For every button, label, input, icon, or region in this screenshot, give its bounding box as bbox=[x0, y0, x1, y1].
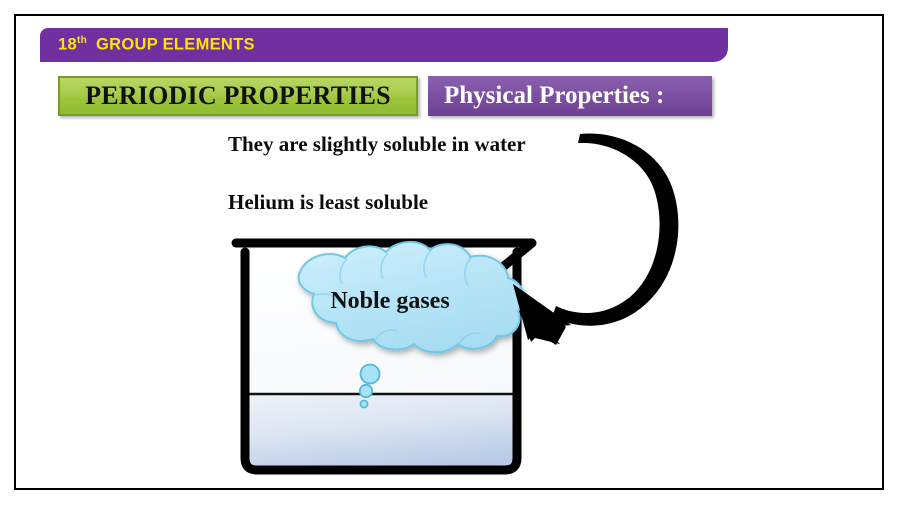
physical-properties-banner: Physical Properties : bbox=[428, 76, 712, 116]
slide-header-title: 18thGROUP ELEMENTS bbox=[58, 35, 255, 55]
periodic-properties-label: PERIODIC PROPERTIES bbox=[85, 81, 391, 111]
group-number: 18 bbox=[58, 36, 77, 54]
body-line-solubility: They are slightly soluble in water bbox=[228, 132, 526, 157]
periodic-properties-banner: PERIODIC PROPERTIES bbox=[58, 76, 418, 116]
group-number-ordinal: th bbox=[77, 35, 87, 46]
slide-canvas: 18thGROUP ELEMENTS PERIODIC PROPERTIES P… bbox=[0, 0, 900, 506]
gas-bubbles bbox=[360, 365, 380, 408]
slide-header-bar: 18thGROUP ELEMENTS bbox=[40, 28, 728, 62]
noble-gases-cloud bbox=[299, 242, 524, 352]
bubble-large bbox=[361, 365, 380, 384]
group-title-text: GROUP ELEMENTS bbox=[96, 36, 255, 54]
beaker-interior bbox=[243, 246, 521, 478]
beaker-graduation-marks bbox=[398, 354, 468, 447]
bubble-small bbox=[360, 400, 367, 407]
bubble-medium bbox=[360, 385, 372, 397]
body-line-helium: Helium is least soluble bbox=[228, 190, 428, 215]
beaker-air-region bbox=[243, 246, 521, 476]
pointer-arrow bbox=[513, 134, 678, 345]
physical-properties-label: Physical Properties : bbox=[444, 82, 664, 110]
cloud-label: Noble gases bbox=[300, 288, 480, 315]
beaker-outline bbox=[236, 243, 532, 470]
beaker-water-region bbox=[243, 394, 521, 478]
